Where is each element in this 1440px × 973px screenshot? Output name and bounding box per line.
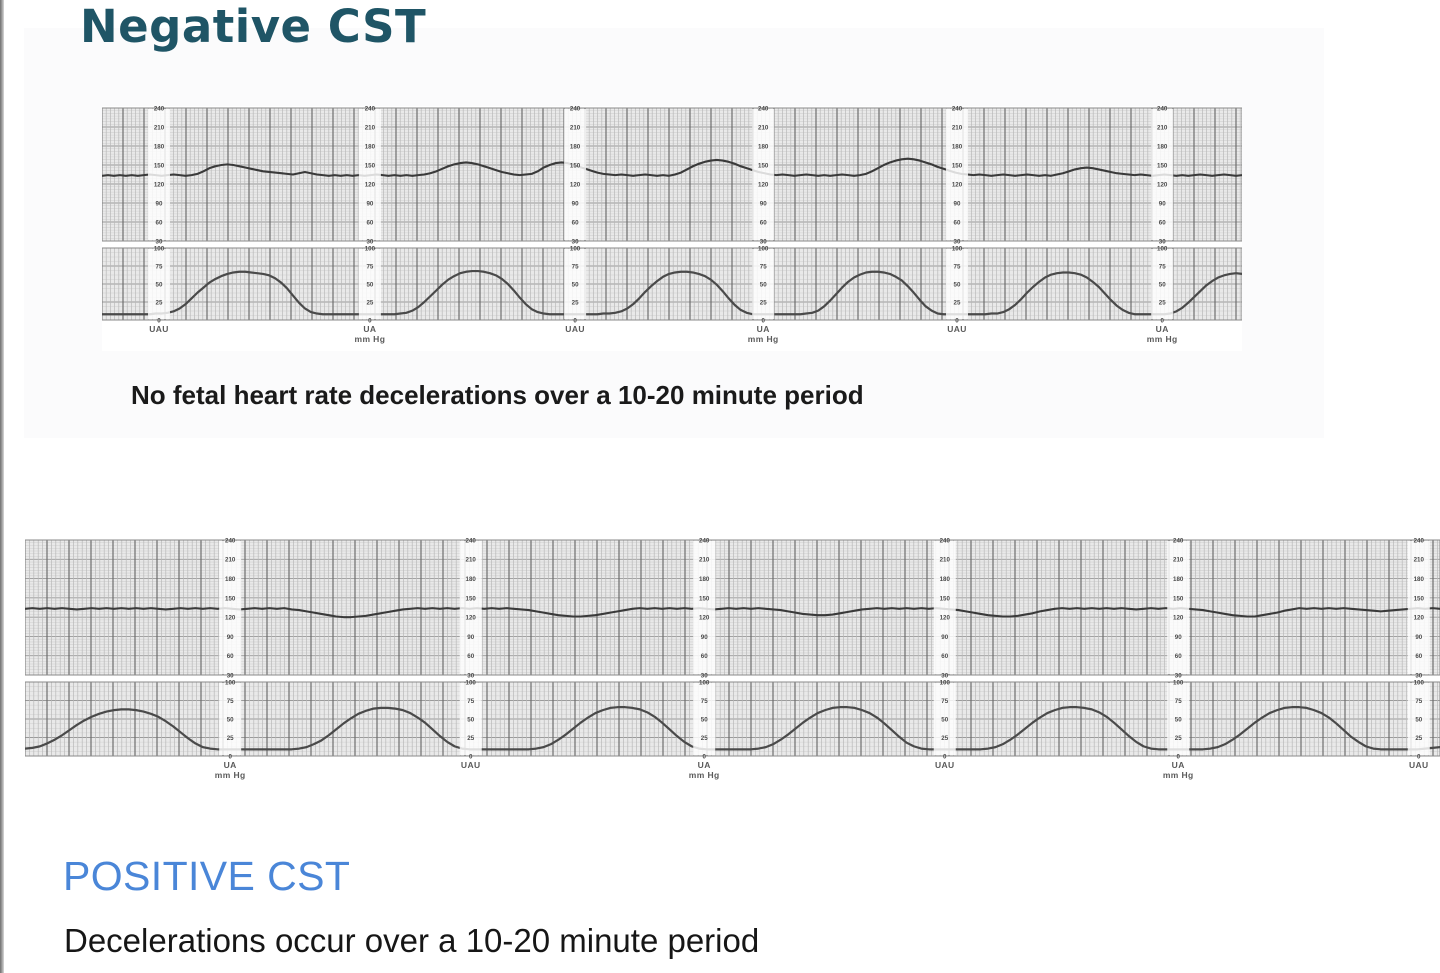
svg-text:30: 30: [941, 672, 948, 679]
svg-text:100: 100: [154, 245, 165, 252]
svg-text:90: 90: [1415, 634, 1422, 641]
svg-text:30: 30: [1159, 238, 1166, 245]
svg-text:50: 50: [1175, 716, 1182, 723]
svg-text:30: 30: [227, 672, 234, 679]
svg-text:30: 30: [572, 238, 579, 245]
svg-text:210: 210: [365, 124, 376, 131]
negative-cst-ctg-strip: 2402101801501209060302402101801501209060…: [102, 106, 1242, 351]
svg-text:240: 240: [952, 106, 963, 112]
svg-text:100: 100: [1157, 245, 1168, 252]
positive-cst-ctg-strip: 2402101801501209060302402101801501209060…: [25, 538, 1440, 788]
svg-text:240: 240: [940, 538, 951, 544]
svg-text:mm Hg: mm Hg: [748, 334, 779, 344]
svg-text:120: 120: [466, 615, 477, 622]
svg-text:25: 25: [156, 299, 163, 306]
svg-text:210: 210: [940, 557, 951, 564]
svg-text:210: 210: [758, 124, 769, 131]
svg-text:180: 180: [758, 143, 769, 150]
svg-text:UAU: UAU: [461, 760, 481, 770]
svg-text:180: 180: [940, 576, 951, 583]
svg-text:25: 25: [1175, 735, 1182, 742]
svg-text:240: 240: [1414, 538, 1425, 544]
svg-text:30: 30: [1415, 672, 1422, 679]
svg-text:UA: UA: [757, 324, 770, 334]
svg-text:60: 60: [1159, 219, 1166, 226]
svg-text:50: 50: [1415, 716, 1422, 723]
svg-text:150: 150: [365, 162, 376, 169]
svg-text:120: 120: [154, 181, 165, 188]
svg-text:240: 240: [699, 538, 710, 544]
slide-left-edge: [0, 0, 4, 973]
svg-text:25: 25: [941, 735, 948, 742]
svg-text:100: 100: [225, 679, 236, 686]
svg-text:60: 60: [954, 219, 961, 226]
svg-text:100: 100: [570, 245, 581, 252]
svg-text:100: 100: [365, 245, 376, 252]
slide-canvas: Negative CST 240210180150120906030240210…: [0, 0, 1440, 973]
svg-text:75: 75: [954, 263, 961, 270]
svg-text:150: 150: [952, 162, 963, 169]
svg-text:50: 50: [227, 716, 234, 723]
svg-text:75: 75: [156, 263, 163, 270]
svg-text:50: 50: [156, 281, 163, 288]
svg-text:mm Hg: mm Hg: [689, 770, 720, 780]
svg-text:25: 25: [954, 299, 961, 306]
svg-text:150: 150: [154, 162, 165, 169]
svg-text:90: 90: [1159, 200, 1166, 207]
svg-text:50: 50: [760, 281, 767, 288]
svg-text:120: 120: [225, 615, 236, 622]
svg-text:210: 210: [1173, 557, 1184, 564]
svg-text:210: 210: [225, 557, 236, 564]
svg-text:150: 150: [1173, 595, 1184, 602]
svg-text:UAU: UAU: [1409, 760, 1429, 770]
svg-text:180: 180: [570, 143, 581, 150]
svg-text:100: 100: [940, 679, 951, 686]
svg-text:120: 120: [952, 181, 963, 188]
svg-text:180: 180: [952, 143, 963, 150]
svg-text:50: 50: [572, 281, 579, 288]
svg-text:UAU: UAU: [935, 760, 955, 770]
svg-text:240: 240: [1173, 538, 1184, 544]
svg-text:120: 120: [940, 615, 951, 622]
svg-text:30: 30: [760, 238, 767, 245]
svg-text:60: 60: [572, 219, 579, 226]
svg-text:75: 75: [1175, 698, 1182, 705]
svg-text:30: 30: [954, 238, 961, 245]
svg-text:60: 60: [701, 653, 708, 660]
svg-text:60: 60: [467, 653, 474, 660]
svg-text:90: 90: [1175, 634, 1182, 641]
svg-text:mm Hg: mm Hg: [354, 334, 385, 344]
svg-text:180: 180: [466, 576, 477, 583]
svg-text:120: 120: [699, 615, 710, 622]
svg-text:25: 25: [760, 299, 767, 306]
svg-text:150: 150: [466, 595, 477, 602]
svg-text:100: 100: [1173, 679, 1184, 686]
svg-text:150: 150: [1157, 162, 1168, 169]
svg-text:180: 180: [365, 143, 376, 150]
svg-text:75: 75: [941, 698, 948, 705]
svg-text:60: 60: [366, 219, 373, 226]
svg-text:210: 210: [1157, 124, 1168, 131]
svg-text:100: 100: [758, 245, 769, 252]
svg-text:90: 90: [467, 634, 474, 641]
svg-text:60: 60: [941, 653, 948, 660]
svg-text:UA: UA: [224, 760, 237, 770]
svg-text:50: 50: [467, 716, 474, 723]
svg-text:240: 240: [1157, 106, 1168, 112]
svg-text:120: 120: [1173, 615, 1184, 622]
svg-text:50: 50: [1159, 281, 1166, 288]
svg-text:180: 180: [1157, 143, 1168, 150]
svg-text:240: 240: [466, 538, 477, 544]
svg-text:90: 90: [941, 634, 948, 641]
negative-cst-chart-svg: 2402101801501209060302402101801501209060…: [102, 106, 1242, 351]
svg-text:75: 75: [760, 263, 767, 270]
svg-text:60: 60: [156, 219, 163, 226]
svg-text:UA: UA: [698, 760, 711, 770]
svg-text:25: 25: [572, 299, 579, 306]
svg-text:240: 240: [225, 538, 236, 544]
svg-text:240: 240: [758, 106, 769, 112]
svg-text:90: 90: [760, 200, 767, 207]
svg-text:150: 150: [1414, 595, 1425, 602]
svg-text:mm Hg: mm Hg: [1147, 334, 1178, 344]
svg-text:180: 180: [1173, 576, 1184, 583]
svg-text:240: 240: [154, 106, 165, 112]
svg-text:150: 150: [758, 162, 769, 169]
svg-text:30: 30: [701, 672, 708, 679]
svg-text:75: 75: [366, 263, 373, 270]
svg-text:25: 25: [366, 299, 373, 306]
svg-text:UAU: UAU: [947, 324, 967, 334]
svg-text:25: 25: [1159, 299, 1166, 306]
svg-text:210: 210: [952, 124, 963, 131]
svg-text:UA: UA: [1156, 324, 1169, 334]
svg-text:UA: UA: [1172, 760, 1185, 770]
svg-text:25: 25: [227, 735, 234, 742]
svg-text:120: 120: [1414, 615, 1425, 622]
positive-cst-caption: Decelerations occur over a 10-20 minute …: [64, 922, 759, 960]
svg-text:90: 90: [156, 200, 163, 207]
svg-text:100: 100: [952, 245, 963, 252]
svg-text:75: 75: [701, 698, 708, 705]
svg-text:30: 30: [1175, 672, 1182, 679]
svg-text:180: 180: [699, 576, 710, 583]
svg-text:210: 210: [466, 557, 477, 564]
svg-text:180: 180: [1414, 576, 1425, 583]
svg-text:180: 180: [154, 143, 165, 150]
svg-text:UAU: UAU: [149, 324, 169, 334]
svg-text:60: 60: [227, 653, 234, 660]
svg-text:210: 210: [570, 124, 581, 131]
svg-text:30: 30: [156, 238, 163, 245]
svg-text:120: 120: [1157, 181, 1168, 188]
svg-text:240: 240: [570, 106, 581, 112]
svg-text:150: 150: [699, 595, 710, 602]
svg-text:90: 90: [954, 200, 961, 207]
svg-text:75: 75: [467, 698, 474, 705]
svg-text:50: 50: [366, 281, 373, 288]
svg-text:90: 90: [572, 200, 579, 207]
svg-text:60: 60: [1175, 653, 1182, 660]
svg-text:75: 75: [1159, 263, 1166, 270]
svg-text:210: 210: [1414, 557, 1425, 564]
svg-text:mm Hg: mm Hg: [215, 770, 246, 780]
svg-text:120: 120: [758, 181, 769, 188]
svg-text:150: 150: [940, 595, 951, 602]
svg-text:30: 30: [366, 238, 373, 245]
svg-text:50: 50: [701, 716, 708, 723]
svg-text:120: 120: [570, 181, 581, 188]
svg-text:UA: UA: [363, 324, 376, 334]
svg-text:120: 120: [365, 181, 376, 188]
page-title-positive-cst: POSITIVE CST: [63, 853, 350, 900]
svg-text:60: 60: [760, 219, 767, 226]
svg-text:75: 75: [227, 698, 234, 705]
svg-text:30: 30: [467, 672, 474, 679]
svg-text:100: 100: [466, 679, 477, 686]
svg-text:90: 90: [701, 634, 708, 641]
svg-text:25: 25: [701, 735, 708, 742]
svg-text:240: 240: [365, 106, 376, 112]
svg-text:75: 75: [572, 263, 579, 270]
negative-cst-caption: No fetal heart rate decelerations over a…: [131, 380, 864, 411]
svg-text:25: 25: [1415, 735, 1422, 742]
svg-text:90: 90: [227, 634, 234, 641]
svg-text:75: 75: [1415, 698, 1422, 705]
page-title-negative-cst: Negative CST: [80, 0, 426, 53]
svg-text:UAU: UAU: [565, 324, 585, 334]
svg-text:180: 180: [225, 576, 236, 583]
svg-text:50: 50: [941, 716, 948, 723]
svg-text:210: 210: [154, 124, 165, 131]
svg-text:60: 60: [1415, 653, 1422, 660]
svg-text:150: 150: [570, 162, 581, 169]
svg-text:150: 150: [225, 595, 236, 602]
svg-text:100: 100: [1414, 679, 1425, 686]
svg-text:210: 210: [699, 557, 710, 564]
svg-text:90: 90: [366, 200, 373, 207]
svg-text:50: 50: [954, 281, 961, 288]
svg-text:100: 100: [699, 679, 710, 686]
positive-cst-chart-svg: 2402101801501209060302402101801501209060…: [25, 538, 1440, 788]
svg-text:25: 25: [467, 735, 474, 742]
svg-text:mm Hg: mm Hg: [1163, 770, 1194, 780]
